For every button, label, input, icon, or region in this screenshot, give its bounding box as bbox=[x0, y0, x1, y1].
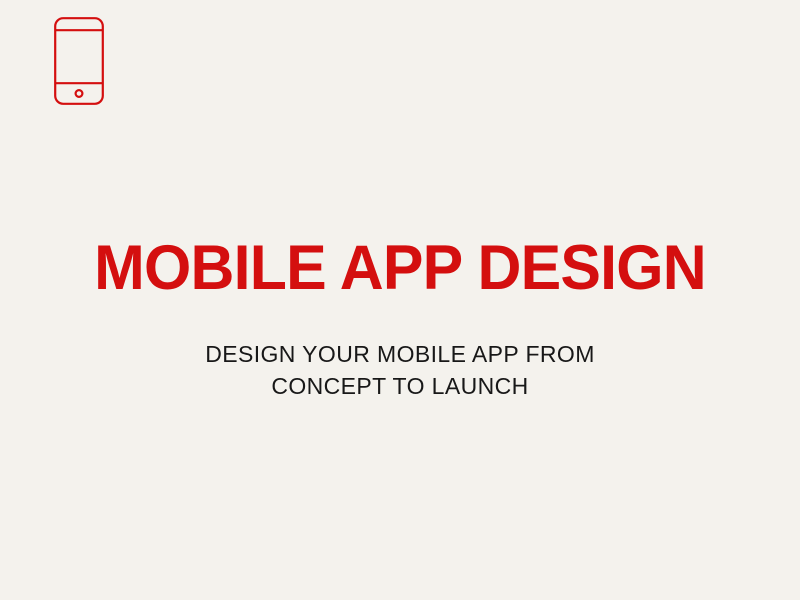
phone-home-button bbox=[76, 90, 83, 97]
slide-canvas: MOBILE APP DESIGN DESIGN YOUR MOBILE APP… bbox=[0, 0, 800, 600]
subtitle-line-1: DESIGN YOUR MOBILE APP FROM bbox=[0, 338, 800, 370]
subtitle-line-2: CONCEPT TO LAUNCH bbox=[0, 370, 800, 402]
mobile-phone-icon bbox=[53, 16, 105, 106]
page-title: MOBILE APP DESIGN bbox=[14, 236, 786, 300]
page-subtitle: DESIGN YOUR MOBILE APP FROM CONCEPT TO L… bbox=[0, 338, 800, 402]
